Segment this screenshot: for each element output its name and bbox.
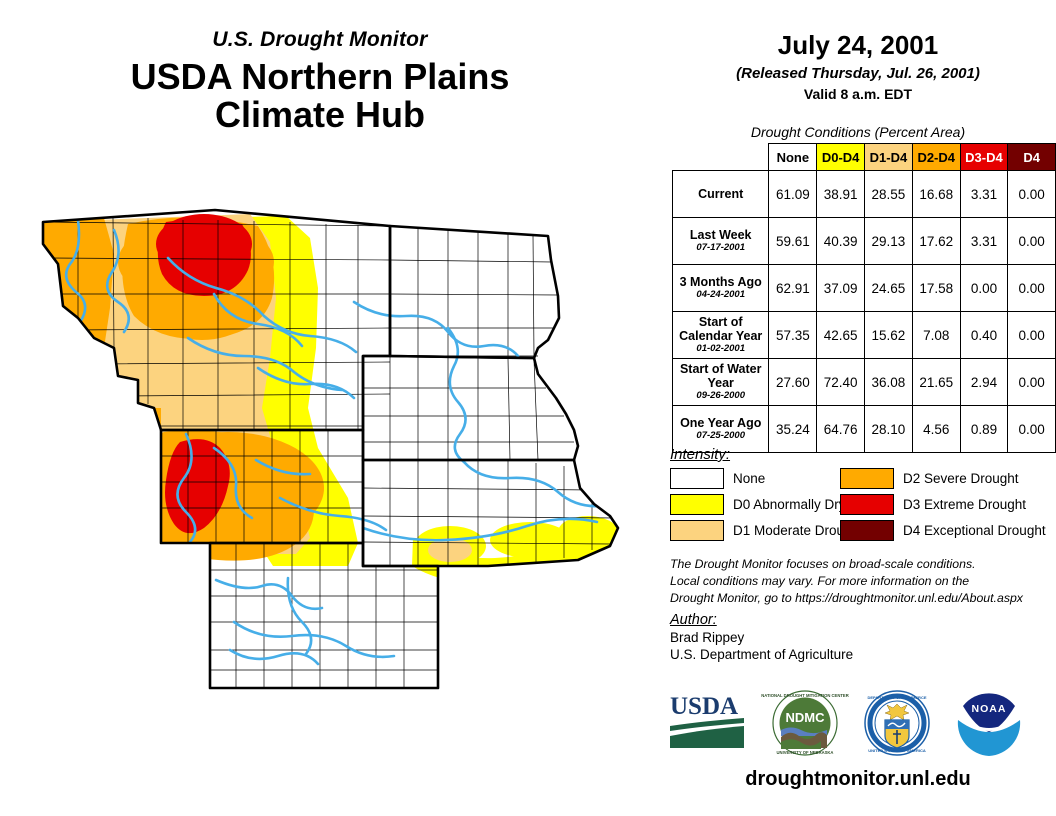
- table-cell: 2.94: [960, 359, 1008, 406]
- table-cell: 3.31: [960, 171, 1008, 218]
- row-date: 09-26-2000: [676, 391, 765, 402]
- svg-text:NOAA: NOAA: [972, 703, 1007, 715]
- ndmc-logo: NDMC NATIONAL DROUGHT MITIGATION CENTER …: [761, 691, 848, 755]
- table-cell: 59.61: [769, 218, 817, 265]
- usda-logo: USDA: [670, 693, 744, 748]
- table-cell: 62.91: [769, 265, 817, 312]
- disclaimer: The Drought Monitor focuses on broad-sca…: [670, 556, 1046, 607]
- legend-swatch: [840, 494, 894, 515]
- website-url: droughtmonitor.unl.edu: [668, 768, 1048, 791]
- author-block: Author: Brad Rippey U.S. Department of A…: [670, 612, 1046, 662]
- disclaimer-line-2: Local conditions may vary. For more info…: [670, 573, 1046, 590]
- table-row: Last Week07-17-200159.6140.3929.1317.623…: [673, 218, 1056, 265]
- table-row: Start of Water Year09-26-200027.6072.403…: [673, 359, 1056, 406]
- map-date: July 24, 2001: [668, 30, 1048, 61]
- release-date: (Released Thursday, Jul. 26, 2001): [668, 65, 1048, 82]
- table-cell: 15.62: [865, 312, 913, 359]
- legend-label: D0 Abnormally Dry: [733, 497, 846, 512]
- disclaimer-line-1: The Drought Monitor focuses on broad-sca…: [670, 556, 1046, 573]
- table-cell: 61.09: [769, 171, 817, 218]
- noaa-logo: NOAA: [958, 693, 1020, 756]
- svg-text:NATIONAL DROUGHT MITIGATION CE: NATIONAL DROUGHT MITIGATION CENTER: [761, 693, 848, 698]
- date-block: July 24, 2001 (Released Thursday, Jul. 2…: [668, 30, 1048, 102]
- table-cell: 0.00: [1008, 171, 1056, 218]
- valid-time: Valid 8 a.m. EDT: [668, 86, 1048, 102]
- col-header-d2-d4: D2-D4: [912, 144, 960, 171]
- table-cell: 21.65: [912, 359, 960, 406]
- table-cell: 40.39: [817, 218, 865, 265]
- table-cell: 16.68: [912, 171, 960, 218]
- logo-row: USDA NDMC NATIONAL DROUGHT MITIGATION CE…: [668, 688, 1048, 764]
- author-name: Brad Rippey: [670, 630, 1046, 645]
- legend-swatch: [840, 468, 894, 489]
- table-caption: Drought Conditions (Percent Area): [668, 124, 1048, 140]
- row-date: 01-02-2001: [676, 344, 765, 355]
- col-header-d4: D4: [1008, 144, 1056, 171]
- table-cell: 29.13: [865, 218, 913, 265]
- row-date: 07-25-2000: [676, 431, 765, 442]
- legend-label: D2 Severe Drought: [903, 471, 1019, 486]
- legend-label: D4 Exceptional Drought: [903, 523, 1046, 538]
- table-cell: 0.00: [1008, 218, 1056, 265]
- legend-item: D1 Moderate Drought: [670, 520, 840, 541]
- table-cell: 0.00: [1008, 359, 1056, 406]
- legend-swatch: [840, 520, 894, 541]
- disclaimer-line-3: Drought Monitor, go to https://droughtmo…: [670, 590, 1046, 607]
- page-title: USDA Northern Plains Climate Hub: [0, 58, 640, 134]
- row-label: Start of Calendar Year01-02-2001: [673, 312, 769, 359]
- table-header-row: None D0-D4 D1-D4 D2-D4 D3-D4 D4: [673, 144, 1056, 171]
- usdoc-logo: DEPARTMENT OF COMMERCE UNITED STATES OF …: [865, 691, 929, 755]
- table-cell: 0.40: [960, 312, 1008, 359]
- title-block: U.S. Drought Monitor USDA Northern Plain…: [0, 28, 640, 134]
- legend-swatch: [670, 520, 724, 541]
- table-cell: 27.60: [769, 359, 817, 406]
- svg-text:DEPARTMENT OF COMMERCE: DEPARTMENT OF COMMERCE: [867, 695, 926, 700]
- row-date: 04-24-2001: [676, 290, 765, 301]
- page-title-line2: Climate Hub: [0, 96, 640, 134]
- legend-item: None: [670, 468, 840, 489]
- drought-map: [18, 198, 654, 726]
- table-cell: 28.55: [865, 171, 913, 218]
- table-cell: 57.35: [769, 312, 817, 359]
- svg-text:UNIVERSITY OF NEBRASKA: UNIVERSITY OF NEBRASKA: [777, 750, 834, 755]
- table-row: Current61.0938.9128.5516.683.310.00: [673, 171, 1056, 218]
- drought-conditions-table: None D0-D4 D1-D4 D2-D4 D3-D4 D4 Current6…: [672, 143, 1056, 453]
- table-cell: 37.09: [817, 265, 865, 312]
- legend-label: D3 Extreme Drought: [903, 497, 1026, 512]
- col-header-d0-d4: D0-D4: [817, 144, 865, 171]
- legend-item: D4 Exceptional Drought: [840, 520, 1045, 541]
- legend-item: D2 Severe Drought: [840, 468, 1045, 489]
- table-row: 3 Months Ago04-24-200162.9137.0924.6517.…: [673, 265, 1056, 312]
- page-title-line1: USDA Northern Plains: [0, 58, 640, 96]
- row-label: 3 Months Ago04-24-2001: [673, 265, 769, 312]
- legend-title: Intensity:: [670, 446, 1048, 463]
- table-cell: 24.65: [865, 265, 913, 312]
- svg-text:USDA: USDA: [670, 693, 738, 720]
- legend-item: D3 Extreme Drought: [840, 494, 1045, 515]
- table-cell: 7.08: [912, 312, 960, 359]
- col-header-none: None: [769, 144, 817, 171]
- table-cell: 17.58: [912, 265, 960, 312]
- table-cell: 17.62: [912, 218, 960, 265]
- author-label: Author:: [670, 612, 1046, 628]
- table-cell: 72.40: [817, 359, 865, 406]
- legend-label: None: [733, 471, 765, 486]
- legend: Intensity: NoneD2 Severe DroughtD0 Abnor…: [670, 446, 1048, 541]
- table-cell: 3.31: [960, 218, 1008, 265]
- row-label: Current: [673, 171, 769, 218]
- legend-item: D0 Abnormally Dry: [670, 494, 840, 515]
- row-label: Last Week07-17-2001: [673, 218, 769, 265]
- svg-text:UNITED STATES OF AMERICA: UNITED STATES OF AMERICA: [868, 748, 926, 753]
- table-cell: 0.00: [1008, 265, 1056, 312]
- table-cell: 36.08: [865, 359, 913, 406]
- svg-text:NDMC: NDMC: [786, 710, 826, 725]
- row-date: 07-17-2001: [676, 243, 765, 254]
- col-header-d3-d4: D3-D4: [960, 144, 1008, 171]
- table-cell: 42.65: [817, 312, 865, 359]
- table-cell: 38.91: [817, 171, 865, 218]
- legend-swatch: [670, 494, 724, 515]
- table-cell: 0.00: [960, 265, 1008, 312]
- table-row: Start of Calendar Year01-02-200157.3542.…: [673, 312, 1056, 359]
- table-corner-cell: [673, 144, 769, 171]
- row-label: Start of Water Year09-26-2000: [673, 359, 769, 406]
- table-cell: 0.00: [1008, 312, 1056, 359]
- drought-monitor-supertitle: U.S. Drought Monitor: [0, 28, 640, 52]
- legend-swatch: [670, 468, 724, 489]
- col-header-d1-d4: D1-D4: [865, 144, 913, 171]
- author-agency: U.S. Department of Agriculture: [670, 647, 1046, 662]
